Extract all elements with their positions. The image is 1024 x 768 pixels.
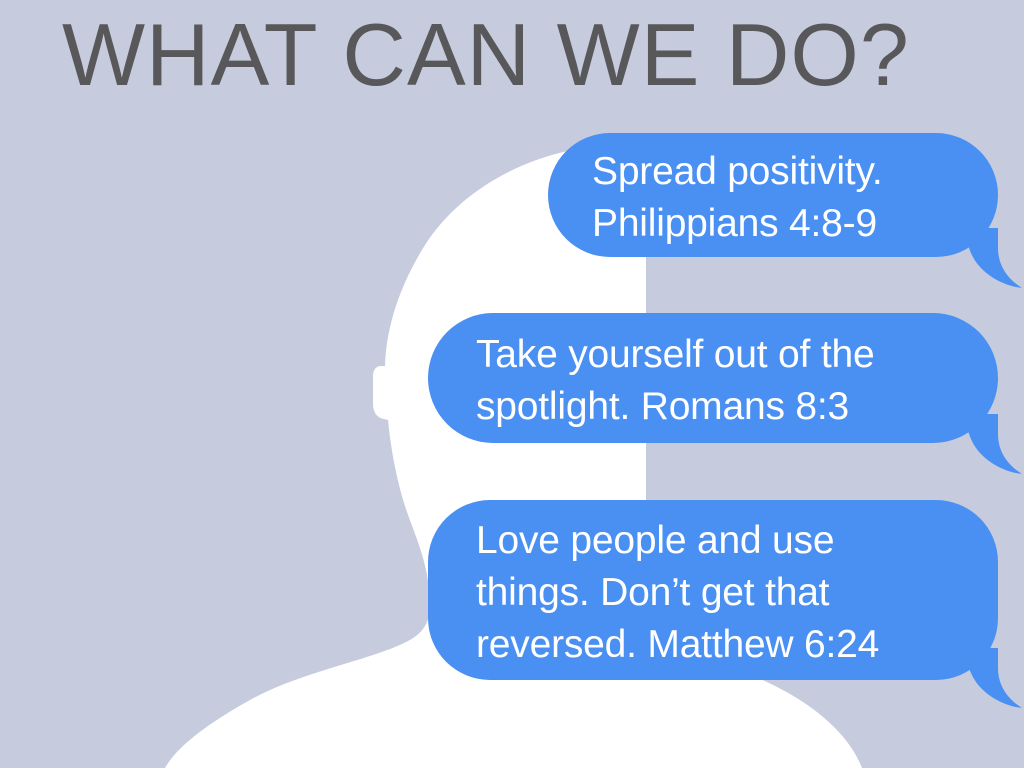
speech-bubble-2-text: Take yourself out of the spotlight. Roma… — [476, 329, 972, 433]
page-title: WHAT CAN WE DO? — [62, 8, 972, 101]
speech-bubble-2: Take yourself out of the spotlight. Roma… — [428, 313, 998, 443]
slide-canvas: WHAT CAN WE DO? Spread positivity. Phili… — [0, 0, 1024, 768]
speech-bubble-1-text: Spread positivity. Philippians 4:8-9 — [592, 146, 972, 250]
speech-bubble-3-text: Love people and use things. Don’t get th… — [476, 515, 972, 671]
speech-bubble-1: Spread positivity. Philippians 4:8-9 — [548, 133, 998, 257]
speech-bubble-3: Love people and use things. Don’t get th… — [428, 500, 998, 680]
